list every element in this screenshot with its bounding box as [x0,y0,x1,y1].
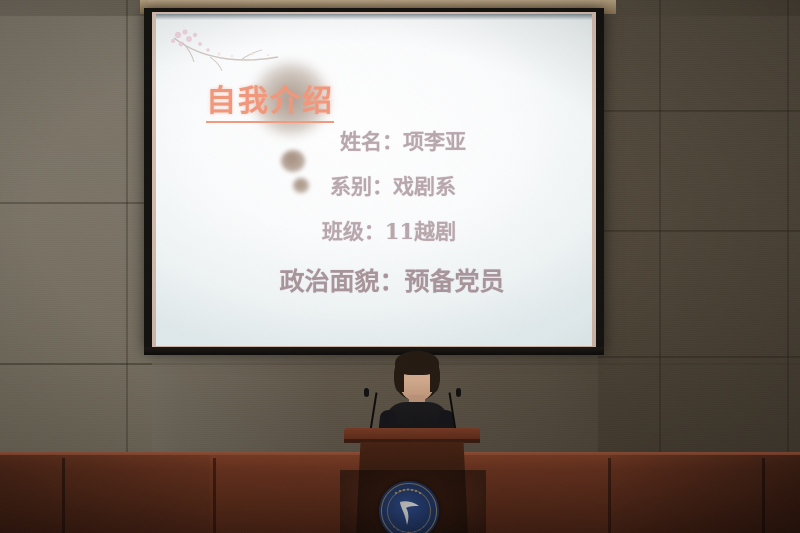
wall-left-panel [0,0,152,470]
wainscot-seam [762,458,765,533]
slide-line-political-status: 政治面貌：预备党员 [192,262,592,298]
wall-seam-vertical [787,0,789,455]
wainscot-seam [608,458,611,533]
slide-line-class: 班级：11越剧 [186,216,592,246]
projection-screen-weight-bar [144,347,604,355]
wall-seam-horizontal [598,356,800,358]
screen-top-shading [156,14,592,20]
wall-seam-horizontal [598,230,800,232]
presenter-hair-left [394,362,404,392]
slide-line-department: 系别：戏剧系 [194,171,592,201]
slide-body: 姓名：项李亚 系别：戏剧系 班级：11越剧 政治面貌：预备党员 [156,126,592,298]
wall-seam-vertical [126,0,128,455]
presenter-hair-right [430,362,440,392]
wall-right-panel [598,0,800,470]
projection-screen-surface: 自我介绍 姓名：项李亚 系别：戏剧系 班级：11越剧 政治面貌：预备党员 [156,14,592,346]
dancer-figure-icon [396,497,422,527]
wall-seam-horizontal [598,110,800,112]
slide-line-name: 姓名：项李亚 [214,126,592,156]
slide-title: 自我介绍 [206,76,334,123]
wall-seam-horizontal [0,202,152,204]
microphone-left-head [364,388,369,397]
wainscot-seam [213,458,216,533]
microphone-right-head [456,388,461,397]
presentation-photo: 自我介绍 姓名：项李亚 系别：戏剧系 班级：11越剧 政治面貌：预备党员 [0,0,800,533]
wall-seam-vertical [659,0,661,455]
wainscot-seam [62,458,65,533]
institution-crest [379,481,439,533]
